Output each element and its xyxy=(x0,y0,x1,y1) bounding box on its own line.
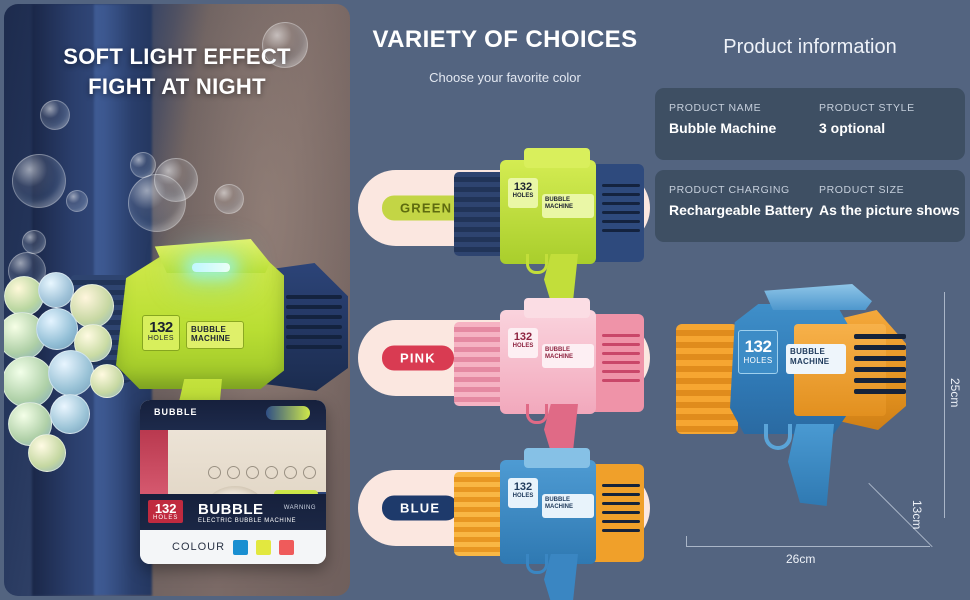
foam-bubble xyxy=(4,356,54,408)
box-name-main: BUBBLE xyxy=(198,501,296,518)
bubble-icon xyxy=(22,230,46,254)
variant-holes-badge: 132 HOLES xyxy=(508,478,538,508)
variety-subtitle: Choose your favorite color xyxy=(360,70,650,85)
night-scene-panel: SOFT LIGHT EFFECT FIGHT AT NIGHT 132 HOL… xyxy=(4,4,350,596)
box-holes-number: 132 xyxy=(153,502,178,515)
hero-holes-badge: 132 HOLES xyxy=(738,330,778,374)
color-badge-pink[interactable]: PINK xyxy=(382,346,454,371)
hero-vents xyxy=(854,334,906,402)
variant-holes-number: 132 xyxy=(514,181,532,193)
variant-vents xyxy=(602,484,640,536)
box-name-sub: ELECTRIC BUBBLE MACHINE xyxy=(198,518,296,524)
variant-top xyxy=(524,298,590,318)
variant-gun-green: 132 HOLES BUBBLE MACHINE xyxy=(452,142,652,292)
variant-holes-badge: 132 HOLES xyxy=(508,328,538,358)
holes-word: HOLES xyxy=(143,335,179,342)
colour-swatch-red xyxy=(279,540,294,555)
box-warning-text: WARNING xyxy=(284,505,316,511)
feature-icon xyxy=(265,466,278,479)
led-light-glow xyxy=(192,263,230,272)
info-key: PRODUCT CHARGING xyxy=(669,184,813,196)
box-colour-row: COLOUR xyxy=(140,530,326,564)
variant-vents xyxy=(602,184,640,236)
variant-brand-line-2: MACHINE xyxy=(545,504,591,511)
box-footer-band: 132 HOLES BUBBLE ELECTRIC BUBBLE MACHINE… xyxy=(140,494,326,530)
product-info-card-1: PRODUCT NAME Bubble Machine PRODUCT STYL… xyxy=(655,88,965,160)
variant-brand-line-1: BUBBLE xyxy=(545,197,591,204)
colour-swatch-yellow-green xyxy=(256,540,271,555)
hero-grip xyxy=(788,424,834,506)
bubble-foam-cluster xyxy=(4,272,148,482)
info-value: 3 optional xyxy=(819,120,915,136)
brand-line-2: MACHINE xyxy=(191,334,239,343)
bubble-icon xyxy=(262,22,308,68)
retail-package-box: BUBBLE 132 HOLES xyxy=(140,400,326,564)
bubble-icon xyxy=(40,100,70,130)
product-info-card-2: PRODUCT CHARGING Rechargeable Battery PR… xyxy=(655,170,965,242)
variant-holes-number: 132 xyxy=(514,331,532,343)
info-key: PRODUCT SIZE xyxy=(819,184,960,196)
feature-icon xyxy=(227,466,240,479)
variant-holes-word: HOLES xyxy=(508,343,538,349)
bubble-icon xyxy=(66,190,88,212)
info-value: Rechargeable Battery xyxy=(669,202,813,218)
variant-brand-decal: BUBBLE MACHINE xyxy=(542,344,594,368)
hero-bubble-gun-illustration: 132 HOLES BUBBLE MACHINE xyxy=(676,278,926,528)
hero-holes-number: 132 xyxy=(739,338,777,355)
hero-brand-line-2: MACHINE xyxy=(790,357,842,367)
variant-vents xyxy=(602,334,640,386)
feature-icon xyxy=(208,466,221,479)
dimension-label-width: 26cm xyxy=(786,552,815,566)
foam-bubble xyxy=(48,350,94,396)
brand-decal: BUBBLE MACHINE xyxy=(186,321,244,349)
hero-trigger xyxy=(764,424,792,450)
variant-trigger xyxy=(526,554,548,574)
info-value: As the picture shows xyxy=(819,202,960,218)
box-top-chip xyxy=(266,406,310,420)
headline-line-2: FIGHT AT NIGHT xyxy=(4,72,350,102)
box-top-text: BUBBLE xyxy=(154,407,198,417)
gun-vents xyxy=(286,295,342,355)
info-cell-product-size: PRODUCT SIZE As the picture shows xyxy=(819,184,960,218)
foam-bubble xyxy=(50,394,90,434)
box-top-band: BUBBLE xyxy=(140,400,326,430)
dimension-label-depth: 13cm xyxy=(910,500,924,529)
holes-number: 132 xyxy=(143,320,179,335)
box-holes-badge: 132 HOLES xyxy=(148,500,183,523)
foam-bubble xyxy=(38,272,74,308)
dimension-line-height xyxy=(944,292,945,518)
hero-holes-word: HOLES xyxy=(739,357,777,365)
color-badge-blue[interactable]: BLUE xyxy=(382,496,458,521)
variant-brand-line-1: BUBBLE xyxy=(545,497,591,504)
variant-holes-word: HOLES xyxy=(508,493,538,499)
variant-brand-line-1: BUBBLE xyxy=(545,347,591,354)
bubble-icon xyxy=(12,154,66,208)
variant-nozzle xyxy=(454,172,506,256)
bubble-icon xyxy=(214,184,244,214)
variant-gun-blue: 132 HOLES BUBBLE MACHINE xyxy=(452,442,652,592)
brand-line-1: BUBBLE xyxy=(191,325,239,334)
box-product-name: BUBBLE ELECTRIC BUBBLE MACHINE xyxy=(198,501,296,524)
foam-bubble xyxy=(90,364,124,398)
feature-icon xyxy=(303,466,316,479)
variant-holes-word: HOLES xyxy=(508,193,538,199)
info-cell-product-style: PRODUCT STYLE 3 optional xyxy=(819,102,915,136)
bubble-icon xyxy=(128,174,186,232)
foam-bubble xyxy=(4,276,44,316)
variant-brand-line-2: MACHINE xyxy=(545,204,591,211)
variant-holes-number: 132 xyxy=(514,481,532,493)
variant-nozzle xyxy=(454,322,506,406)
variant-grip xyxy=(544,554,578,600)
hero-brand-line-1: BUBBLE xyxy=(790,347,842,357)
info-key: PRODUCT NAME xyxy=(669,102,776,114)
variant-gun-pink: 132 HOLES BUBBLE MACHINE xyxy=(452,292,652,442)
info-cell-product-name: PRODUCT NAME Bubble Machine xyxy=(669,102,776,136)
variant-trigger xyxy=(526,254,548,274)
dimension-label-height: 25cm xyxy=(948,378,962,407)
foam-bubble xyxy=(36,308,78,350)
dimension-tick-left xyxy=(686,536,687,546)
variant-brand-decal: BUBBLE MACHINE xyxy=(542,494,594,518)
box-feature-icons xyxy=(208,466,316,479)
info-cell-product-charging: PRODUCT CHARGING Rechargeable Battery xyxy=(669,184,813,218)
variant-nozzle xyxy=(454,472,506,556)
hero-nozzle xyxy=(676,324,738,434)
box-holes-word: HOLES xyxy=(153,515,178,521)
variant-brand-decal: BUBBLE MACHINE xyxy=(542,194,594,218)
info-key: PRODUCT STYLE xyxy=(819,102,915,114)
variant-trigger xyxy=(526,404,548,424)
variant-holes-badge: 132 HOLES xyxy=(508,178,538,208)
hero-top-shell xyxy=(762,284,872,310)
hero-brand-decal: BUBBLE MACHINE xyxy=(786,344,846,374)
dimension-line-width xyxy=(686,546,930,547)
foam-bubble xyxy=(28,434,66,472)
variant-brand-line-2: MACHINE xyxy=(545,354,591,361)
product-information-title: Product information xyxy=(655,36,965,59)
info-value: Bubble Machine xyxy=(669,120,776,136)
feature-icon xyxy=(284,466,297,479)
variant-top xyxy=(524,448,590,468)
variety-title: VARIETY OF CHOICES xyxy=(360,26,650,54)
colour-swatch-blue xyxy=(233,540,248,555)
variant-top xyxy=(524,148,590,168)
feature-icon xyxy=(246,466,259,479)
colour-label: COLOUR xyxy=(172,541,225,553)
